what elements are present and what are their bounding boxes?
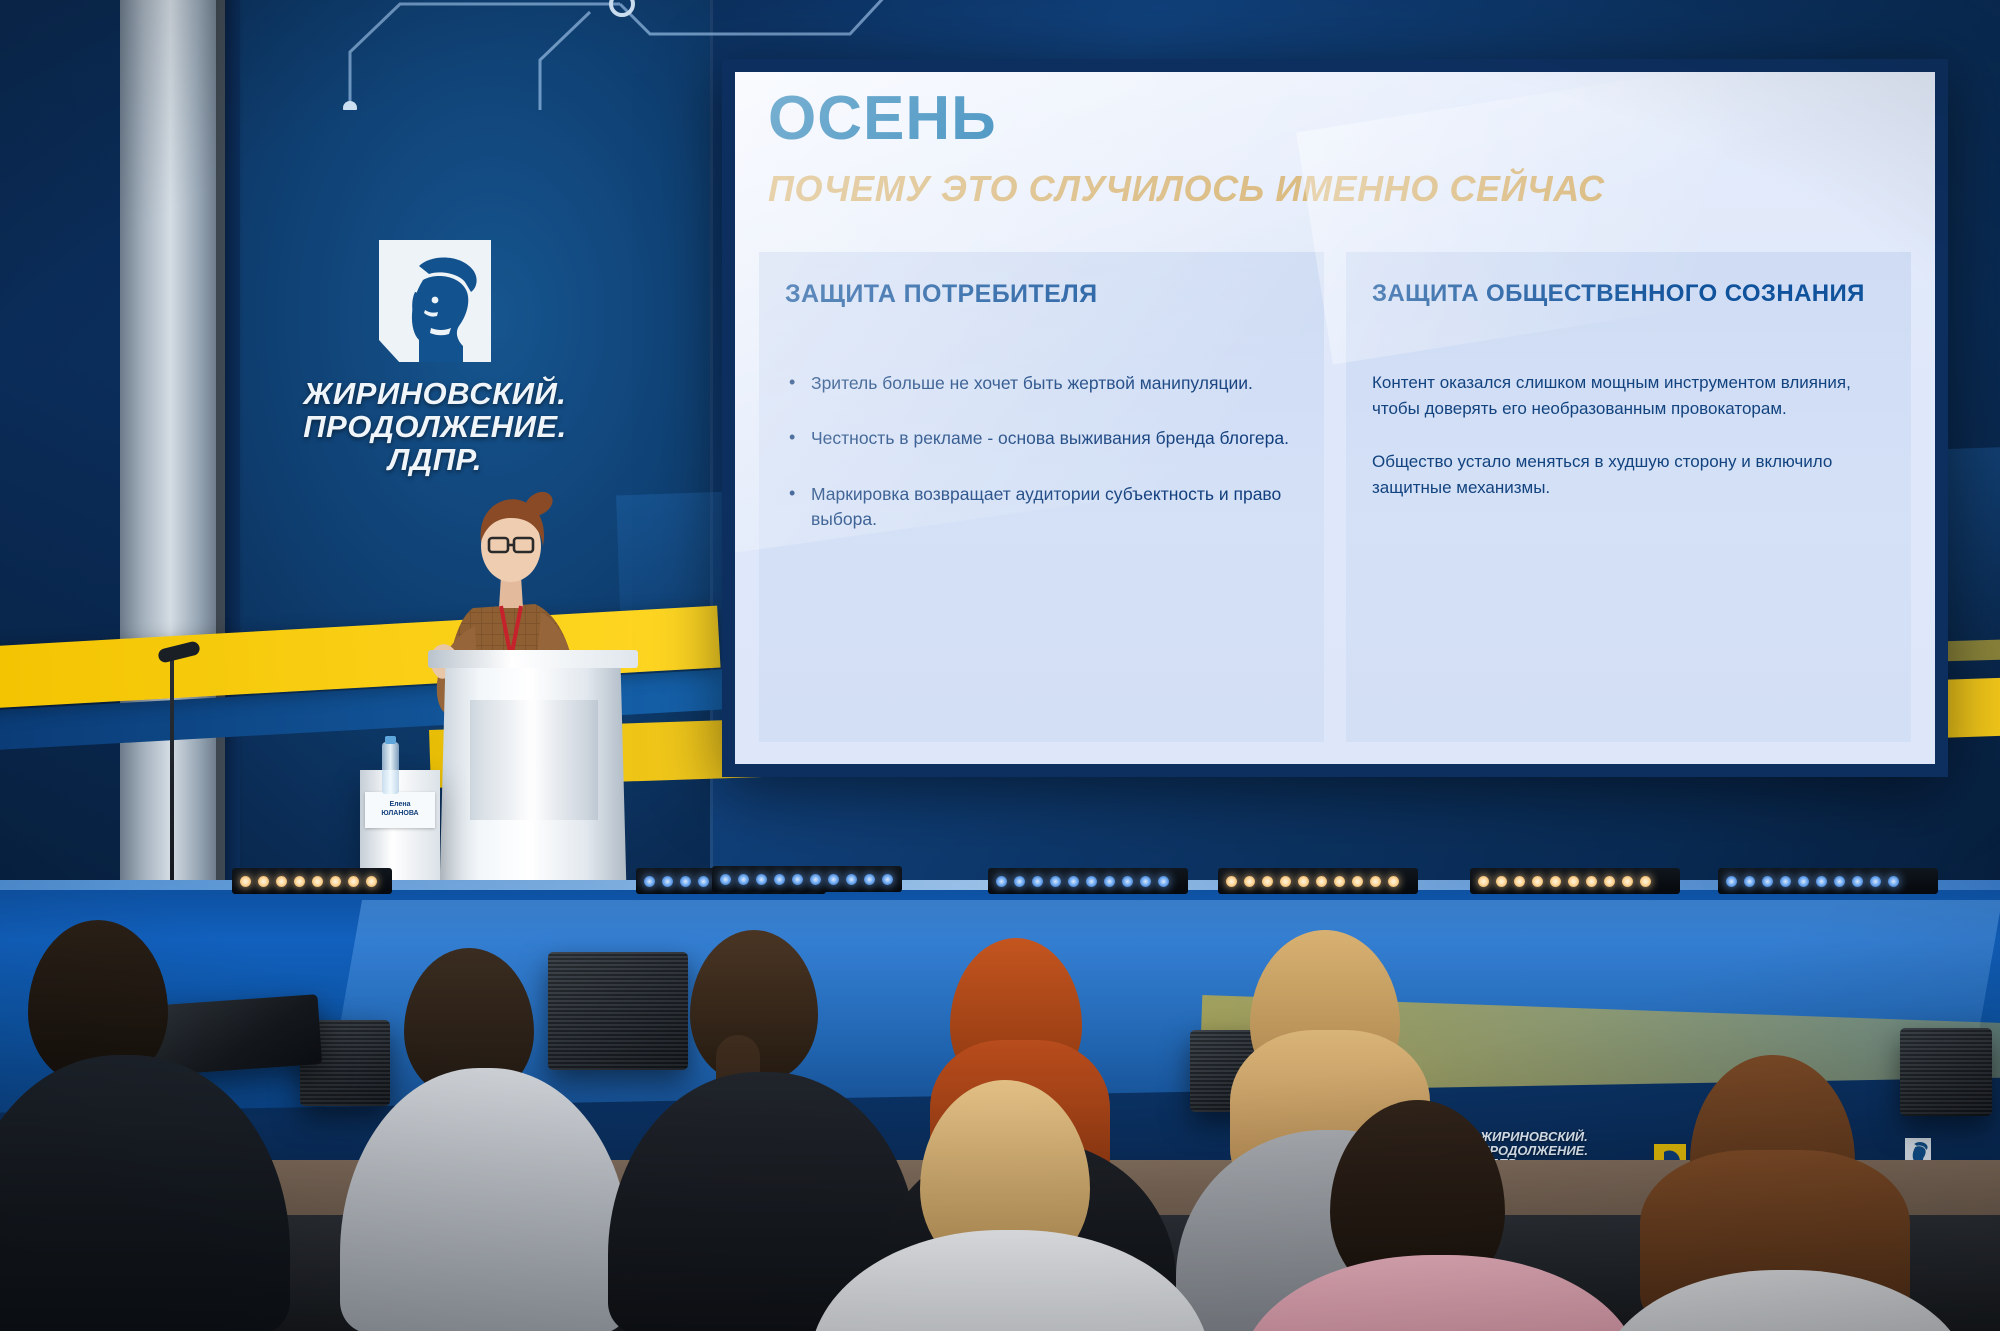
- nameplate-last-name: ЮЛАНОВА: [381, 810, 418, 819]
- stage-led-bar: [988, 868, 1188, 894]
- podium-top-surface: [428, 650, 638, 668]
- nameplate-first-name: Елена: [389, 801, 410, 810]
- slide-panel-public-consciousness: ЗАЩИТА ОБЩЕСТВЕННОГО СОЗНАНИЯ Контент ок…: [1346, 252, 1911, 742]
- wall-logo-line-3: ЛДПР.: [300, 444, 570, 477]
- stage-monitor-speaker: [1900, 1028, 1992, 1116]
- speaker-nameplate: Елена ЮЛАНОВА: [365, 792, 435, 828]
- ldpr-wall-logo: ЖИРИНОВСКИЙ. ПРОДОЛЖЕНИЕ. ЛДПР.: [300, 240, 570, 477]
- backdrop-logo-line-1: ЖИРИНОВСКИЙ.: [1480, 1130, 1588, 1144]
- slide-panel-consumer-protection: ЗАЩИТА ПОТРЕБИТЕЛЯ Зритель больше не хоч…: [759, 252, 1324, 742]
- slide-surface: ОСЕНЬ ПОЧЕМУ ЭТО СЛУЧИЛОСЬ ИМЕННО СЕЙЧАС…: [735, 72, 1935, 764]
- stage-led-bar: [1218, 868, 1418, 894]
- stage-monitor-speaker: [548, 952, 688, 1070]
- column-shadow: [216, 0, 244, 905]
- panel-heading: ЗАЩИТА ПОТРЕБИТЕЛЯ: [785, 280, 1298, 309]
- list-item: Честность в рекламе - основа выживания б…: [785, 426, 1298, 451]
- water-bottle-cap: [385, 736, 396, 744]
- list-item: Маркировка возвращает аудитории субъектн…: [785, 482, 1298, 533]
- water-bottle: [382, 742, 399, 794]
- stage-led-bar: [712, 866, 902, 892]
- slide-title: ОСЕНЬ: [768, 88, 997, 150]
- stage-led-bar: [232, 868, 392, 894]
- conference-hall-photo: ЖИРИНОВСКИЙ. ПРОДОЛЖЕНИЕ. ЛДПР. ОСЕНЬ ПО…: [0, 0, 2000, 1331]
- presentation-screen: ОСЕНЬ ПОЧЕМУ ЭТО СЛУЧИЛОСЬ ИМЕННО СЕЙЧАС…: [722, 59, 1948, 777]
- zhirinovsky-portrait-icon: [379, 240, 491, 362]
- wall-logo-line-1: ЖИРИНОВСКИЙ.: [300, 378, 570, 411]
- back-wall-far-left-panel: [0, 0, 120, 905]
- panel-bullet-list: Зритель больше не хочет быть жертвой ман…: [785, 371, 1298, 533]
- podium-front-panel: [470, 700, 598, 820]
- stage-led-bar: [1470, 868, 1680, 894]
- slide-subtitle: ПОЧЕМУ ЭТО СЛУЧИЛОСЬ ИМЕННО СЕЙЧАС: [768, 168, 1605, 210]
- slide-panels: ЗАЩИТА ПОТРЕБИТЕЛЯ Зритель больше не хоч…: [759, 252, 1911, 742]
- panel-heading: ЗАЩИТА ОБЩЕСТВЕННОГО СОЗНАНИЯ: [1372, 280, 1885, 308]
- panel-paragraph: Общество устало меняться в худшую сторон…: [1372, 449, 1885, 500]
- microphone-stand: [170, 650, 174, 900]
- stage-led-bar: [1718, 868, 1938, 894]
- wall-logo-line-2: ПРОДОЛЖЕНИЕ.: [300, 411, 570, 444]
- panel-paragraph: Контент оказался слишком мощным инструме…: [1372, 370, 1885, 421]
- list-item: Зритель больше не хочет быть жертвой ман…: [785, 371, 1298, 396]
